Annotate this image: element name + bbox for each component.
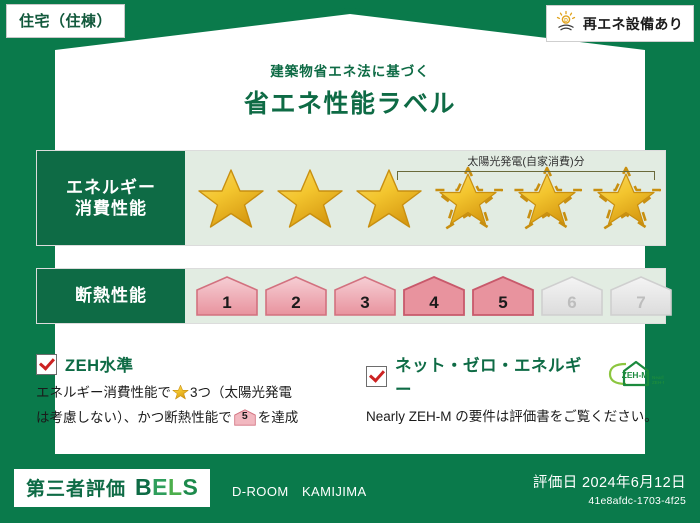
evaluation-date: 評価日 2024年6月12日 [533, 471, 686, 492]
bels-logo-box: 第三者評価 BELS [14, 469, 210, 507]
inline-house-level-value: 5 [234, 409, 256, 426]
insulation-level-4-value: 4 [429, 293, 438, 313]
insulation-level-group: 1 2 3 4 5 [195, 269, 673, 323]
energy-star-1 [193, 162, 269, 234]
bels-jp-label: 第三者評価 [26, 474, 126, 501]
solar-annotation: 太陽光発電(自家消費)分 [397, 153, 655, 180]
title-subtitle: 建築物省エネ法に基づく [0, 60, 700, 80]
insulation-level-6: 6 [540, 275, 604, 317]
footer-bar: 第三者評価 BELS D-ROOM KAMIJIMA 評価日 2024年6月12… [0, 461, 700, 523]
insulation-level-7: 7 [609, 275, 673, 317]
energy-performance-body: 太陽光発電(自家消費)分 [185, 151, 665, 245]
svg-text:ZEH-M: ZEH-M [652, 380, 664, 385]
net-zero-title: ネット・ゼロ・エネルギー [395, 352, 590, 400]
energy-label-line1: エネルギー [66, 177, 156, 198]
energy-performance-label: エネルギー 消費性能 [37, 151, 185, 245]
net-zero-checkbox [366, 366, 387, 387]
energy-label-line2: 消費性能 [75, 198, 147, 219]
bels-letter-b: B [135, 474, 152, 501]
insulation-label-line1: 断熱性能 [75, 285, 147, 306]
building-type-tab: 住宅（住棟） [6, 4, 125, 38]
certification-checks: ZEH水準 エネルギー消費性能で3つ（太陽光発電 は考慮しない）、かつ断熱性能で… [36, 352, 664, 428]
solar-annotation-caption: 太陽光発電(自家消費)分 [397, 153, 655, 169]
renewable-badge-label: 再エネ設備あり [583, 14, 683, 34]
inline-star-icon [172, 384, 189, 407]
building-type-label: 住宅（住棟） [19, 13, 112, 30]
zeh-standard-title: ZEH水準 [65, 352, 134, 376]
bels-wordmark: BELS [135, 474, 198, 501]
insulation-performance-label: 断熱性能 [37, 269, 185, 323]
insulation-level-1: 1 [195, 275, 259, 317]
zeh-body-part1: エネルギー消費性能で [36, 385, 171, 400]
net-zero-body: Nearly ZEH-M の要件は評価書をご覧ください。 [366, 406, 664, 428]
insulation-level-3: 3 [333, 275, 397, 317]
project-name: D-ROOM KAMIJIMA [232, 481, 367, 500]
insulation-level-7-value: 7 [636, 293, 645, 313]
zeh-standard-checkbox [36, 354, 57, 375]
energy-star-2 [272, 162, 348, 234]
bels-letter-s: S [183, 474, 199, 501]
insulation-performance-row: 断熱性能 1 2 [36, 268, 666, 324]
zeh-body-part3: を達成 [258, 410, 299, 425]
footer-meta: 評価日 2024年6月12日 41e8afdc-1703-4f25 [533, 471, 686, 507]
zeh-standard-block: ZEH水準 エネルギー消費性能で3つ（太陽光発電 は考慮しない）、かつ断熱性能で… [36, 352, 348, 428]
solar-annotation-bracket [397, 171, 655, 180]
svg-text:ZEH-M: ZEH-M [622, 370, 649, 380]
bels-letter-e: E [152, 474, 168, 501]
insulation-level-1-value: 1 [222, 293, 231, 313]
insulation-level-2: 2 [264, 275, 328, 317]
insulation-level-5-value: 5 [498, 293, 507, 313]
svg-text:D: D [564, 18, 568, 24]
title-main: 省エネ性能ラベル [0, 84, 700, 120]
title-block: 建築物省エネ法に基づく 省エネ性能ラベル [0, 60, 700, 120]
insulation-performance-body: 1 2 3 4 5 [185, 269, 665, 323]
solar-sun-icon: D [555, 10, 577, 37]
insulation-level-4: 4 [402, 275, 466, 317]
zeh-body-part2: は考慮しない）、かつ断熱性能で [36, 410, 232, 425]
insulation-level-5: 5 [471, 275, 535, 317]
insulation-level-3-value: 3 [360, 293, 369, 313]
energy-performance-row: エネルギー 消費性能 太陽光発電(自家消費)分 [36, 150, 666, 246]
inline-house-level-icon: 5 [234, 409, 256, 426]
energy-label-card: 住宅（住棟） D 再エネ設備あり 建築物省エネ法に基づく 省エネ性能ラベ [0, 0, 700, 523]
net-zero-energy-block: ネット・ゼロ・エネルギー ZEH-M Nearly ZEH-M Nearly Z… [366, 352, 664, 428]
zeh-body-star-count: 3つ（太陽光発電 [190, 385, 292, 400]
net-zero-head: ネット・ゼロ・エネルギー ZEH-M Nearly ZEH-M [366, 352, 664, 400]
zeh-standard-head: ZEH水準 [36, 352, 348, 376]
renewable-equipment-badge: D 再エネ設備あり [546, 5, 694, 42]
insulation-level-6-value: 6 [567, 293, 576, 313]
evaluation-id: 41e8afdc-1703-4f25 [533, 495, 686, 507]
bels-letter-l: L [168, 474, 183, 501]
insulation-level-2-value: 2 [291, 293, 300, 313]
zeh-standard-body: エネルギー消費性能で3つ（太陽光発電 は考慮しない）、かつ断熱性能で5を達成 [36, 382, 348, 428]
zeh-m-logo-icon: ZEH-M Nearly ZEH-M [602, 359, 664, 394]
